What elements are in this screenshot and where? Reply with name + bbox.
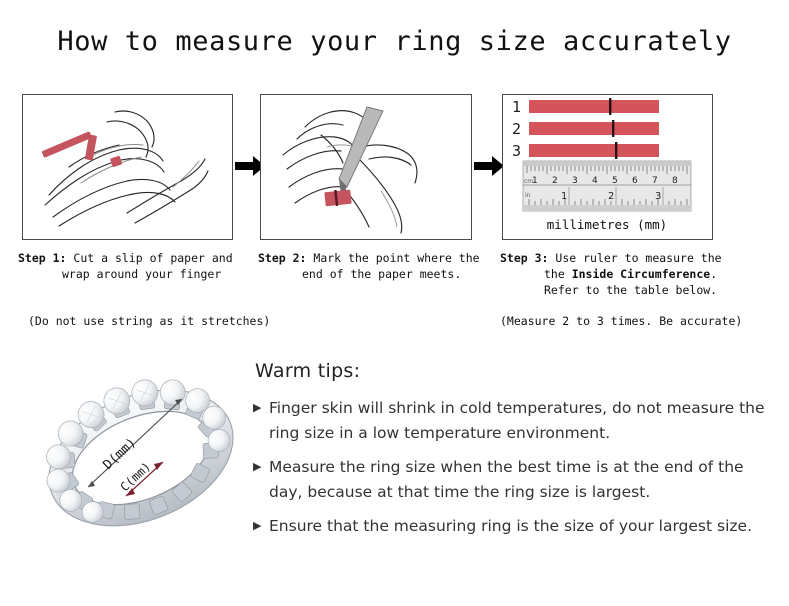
ruler-cm-tick-4: 4	[592, 176, 598, 186]
step-3-note: (Measure 2 to 3 times. Be accurate)	[500, 314, 742, 328]
pen-icon	[339, 107, 383, 195]
step-2-illustration-panel	[260, 94, 472, 240]
ruler-inch-tick-1: 1	[561, 191, 567, 202]
step-1-label: Step 1:	[18, 251, 66, 265]
step-1-line1: Cut a slip of paper and	[73, 251, 232, 265]
tip-text: Finger skin will shrink in cold temperat…	[269, 396, 773, 446]
step-3-inside-circumference: Inside Circumference	[572, 267, 710, 281]
tip-item: ▶ Ensure that the measuring ring is the …	[253, 514, 773, 539]
step-2-line2: end of the paper meets.	[258, 266, 493, 282]
hand-with-paper-strip-drawing	[23, 95, 232, 239]
eternity-ring-photo: D(mm) C(mm)	[30, 352, 252, 564]
step-3-illustration-panel: 1 2 3	[502, 94, 713, 240]
tip-text: Measure the ring size when the best time…	[269, 455, 773, 505]
ruler-cm-unit: cm	[524, 178, 533, 185]
ruler-cm-tick-7: 7	[652, 176, 658, 186]
triangle-bullet-icon: ▶	[253, 455, 269, 478]
step-2-line1: Mark the point where the	[313, 251, 479, 265]
ring-size-guide: How to measure your ring size accurately	[0, 0, 789, 606]
step-3-line2-pre: the	[544, 267, 572, 281]
ruler-cm-tick-2: 2	[552, 176, 558, 186]
ruler-cm-tick-8: 8	[672, 176, 678, 186]
warm-tips-heading: Warm tips:	[255, 360, 773, 382]
strip-number-3: 3	[512, 142, 521, 160]
step-1-line2: wrap around your finger	[18, 266, 253, 282]
measured-strip-3	[529, 144, 659, 157]
strip-number-1: 1	[512, 98, 521, 116]
ring-diagram: D(mm) C(mm)	[30, 352, 252, 564]
measured-strip-2	[529, 122, 659, 135]
step-3-line2-post: .	[710, 267, 717, 281]
ruler-cm-tick-3: 3	[572, 176, 578, 186]
step-3-line3: Refer to the table below.	[500, 282, 750, 298]
step-1-illustration-panel	[22, 94, 233, 240]
ruler-cm-tick-6: 6	[632, 176, 638, 186]
step-1-note: (Do not use string as it stretches)	[28, 314, 270, 328]
step-3-line1: Use ruler to measure the	[555, 251, 721, 265]
hand-marking-with-pen-drawing	[261, 95, 471, 239]
ruler-inch-tick-2: 2	[608, 191, 614, 202]
step-2-caption: Step 2: Mark the point where the end of …	[258, 250, 493, 282]
ruler-inch-unit: in	[525, 192, 531, 199]
step-1-caption: Step 1: Cut a slip of paper and wrap aro…	[18, 250, 253, 282]
arrow-step2-to-step3-icon	[472, 152, 506, 180]
triangle-bullet-icon: ▶	[253, 514, 269, 537]
ruler-caption: millimetres (mm)	[547, 217, 667, 232]
tip-text: Ensure that the measuring ring is the si…	[269, 514, 752, 539]
step-3-caption: Step 3: Use ruler to measure the the Ins…	[500, 250, 750, 298]
triangle-bullet-icon: ▶	[253, 396, 269, 419]
paper-strip-red	[42, 131, 123, 167]
ruler-icon: 1 2 3 4 5 6 7 8 cm 1 2 3 in	[523, 161, 691, 211]
step-2-label: Step 2:	[258, 251, 306, 265]
warm-tips-section: Warm tips: ▶ Finger skin will shrink in …	[253, 360, 773, 548]
measured-strip-1	[529, 100, 659, 113]
ruler-cm-tick-5: 5	[612, 176, 618, 186]
strip-number-2: 2	[512, 120, 521, 138]
tip-item: ▶ Finger skin will shrink in cold temper…	[253, 396, 773, 446]
strips-and-ruler-diagram: 1 2 3	[503, 95, 712, 239]
step-3-label: Step 3:	[500, 251, 548, 265]
tip-item: ▶ Measure the ring size when the best ti…	[253, 455, 773, 505]
paper-mark-red	[324, 190, 351, 207]
page-title: How to measure your ring size accurately	[0, 26, 789, 57]
